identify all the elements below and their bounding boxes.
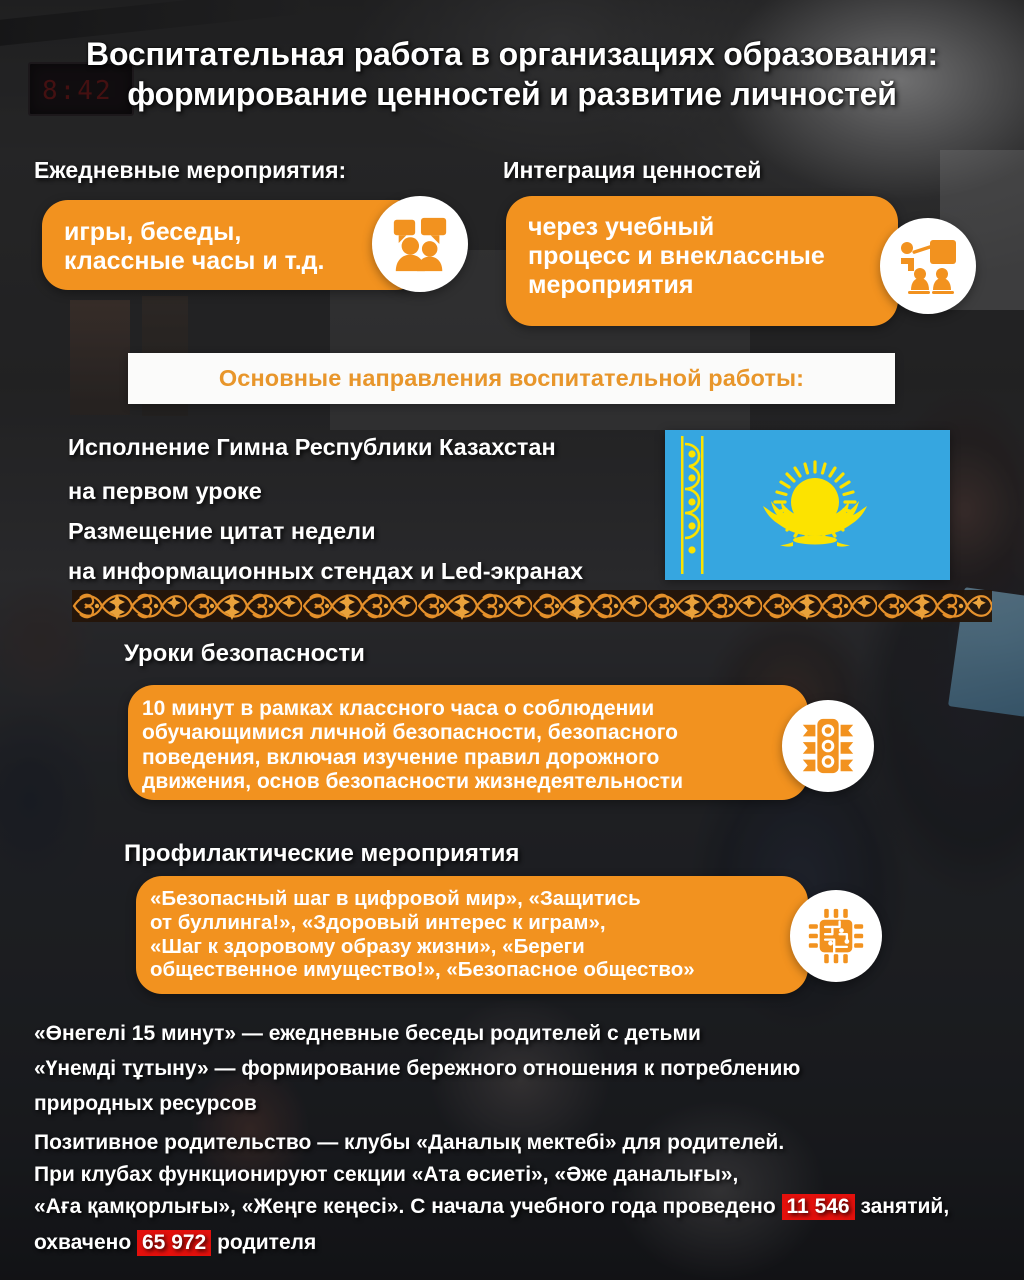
daily-activities-heading: Ежедневные мероприятия: bbox=[34, 157, 346, 184]
lessons-count-badge: 11 546 bbox=[782, 1194, 855, 1220]
values-integration-line-2: процесс и внеклассные bbox=[528, 242, 876, 271]
safety-lessons-heading: Уроки безопасности bbox=[124, 640, 365, 668]
direction-line-2: на первом уроке bbox=[68, 478, 262, 505]
teacher-board-icon bbox=[880, 218, 976, 314]
daily-activities-pill: игры, беседы, классные часы и т.д. bbox=[42, 200, 422, 290]
daily-activities-line-1: игры, беседы, bbox=[64, 218, 400, 247]
direction-line-4: на информационных стендах и Led-экранах bbox=[68, 558, 583, 585]
footer-line-2: «Үнемді тұтыну» — формирование бережного… bbox=[34, 1057, 800, 1081]
traffic-light-icon bbox=[782, 700, 874, 792]
safety-line-3: поведения, включая изучение правил дорож… bbox=[142, 746, 786, 770]
microchip-icon bbox=[790, 890, 882, 982]
main-directions-banner-text: Основные направления воспитательной рабо… bbox=[219, 365, 804, 392]
footer-line-6-suffix: занятий, bbox=[855, 1195, 950, 1218]
prevention-line-3: «Шаг к здоровому образу жизни», «Береги bbox=[150, 935, 786, 959]
daily-activities-line-2: классные часы и т.д. bbox=[64, 247, 400, 276]
prevention-line-2: от буллинга!», «Здоровый интерес к играм… bbox=[150, 911, 786, 935]
prevention-activities-pill: «Безопасный шаг в цифровой мир», «Защити… bbox=[136, 876, 808, 994]
footer-line-5: При клубах функционируют секции «Ата өси… bbox=[34, 1163, 738, 1187]
speech-people-icon bbox=[372, 196, 468, 292]
safety-lessons-pill: 10 минут в рамках классного часа о соблю… bbox=[128, 685, 808, 800]
values-integration-line-3: мероприятия bbox=[528, 271, 876, 300]
safety-line-1: 10 минут в рамках классного часа о соблю… bbox=[142, 697, 786, 721]
parents-count-badge: 65 972 bbox=[137, 1230, 211, 1256]
footer-line-7-prefix: охвачено bbox=[34, 1231, 137, 1254]
direction-line-3: Размещение цитат недели bbox=[68, 518, 376, 545]
values-integration-heading: Интеграция ценностей bbox=[503, 157, 761, 184]
main-directions-banner: Основные направления воспитательной рабо… bbox=[128, 353, 895, 404]
values-integration-line-1: через учебный bbox=[528, 213, 876, 242]
kazakhstan-flag bbox=[665, 430, 950, 580]
footer-line-6: «Аға қамқорлығы», «Жеңге кеңесі». С нача… bbox=[34, 1195, 949, 1219]
footer-line-6-prefix: «Аға қамқорлығы», «Жеңге кеңесі». С нача… bbox=[34, 1195, 782, 1218]
prevention-line-4: общественное имущество!», «Безопасное об… bbox=[150, 958, 786, 982]
page-title-line-1: Воспитательная работа в организациях обр… bbox=[60, 34, 964, 74]
page-title-line-2: формирование ценностей и развитие личнос… bbox=[60, 74, 964, 114]
direction-line-1: Исполнение Гимна Республики Казахстан bbox=[68, 434, 556, 461]
page-title: Воспитательная работа в организациях обр… bbox=[0, 34, 1024, 115]
safety-line-2: обучающимися личной безопасности, безопа… bbox=[142, 721, 786, 745]
footer-line-4: Позитивное родительство — клубы «Даналық… bbox=[34, 1131, 784, 1155]
footer-line-7-suffix: родителя bbox=[211, 1231, 316, 1254]
footer-line-3: природных ресурсов bbox=[34, 1092, 257, 1116]
prevention-line-1: «Безопасный шаг в цифровой мир», «Защити… bbox=[150, 887, 786, 911]
safety-line-4: движения, основ безопасности жизнедеятел… bbox=[142, 770, 786, 794]
footer-line-7: охвачено 65 972 родителя bbox=[34, 1231, 316, 1255]
prevention-activities-heading: Профилактические мероприятия bbox=[124, 840, 519, 868]
values-integration-pill: через учебный процесс и внеклассные меро… bbox=[506, 196, 898, 326]
footer-line-1: «Өнегелі 15 минут» — ежедневные беседы р… bbox=[34, 1022, 701, 1046]
kazakh-ornament-divider bbox=[72, 590, 992, 622]
